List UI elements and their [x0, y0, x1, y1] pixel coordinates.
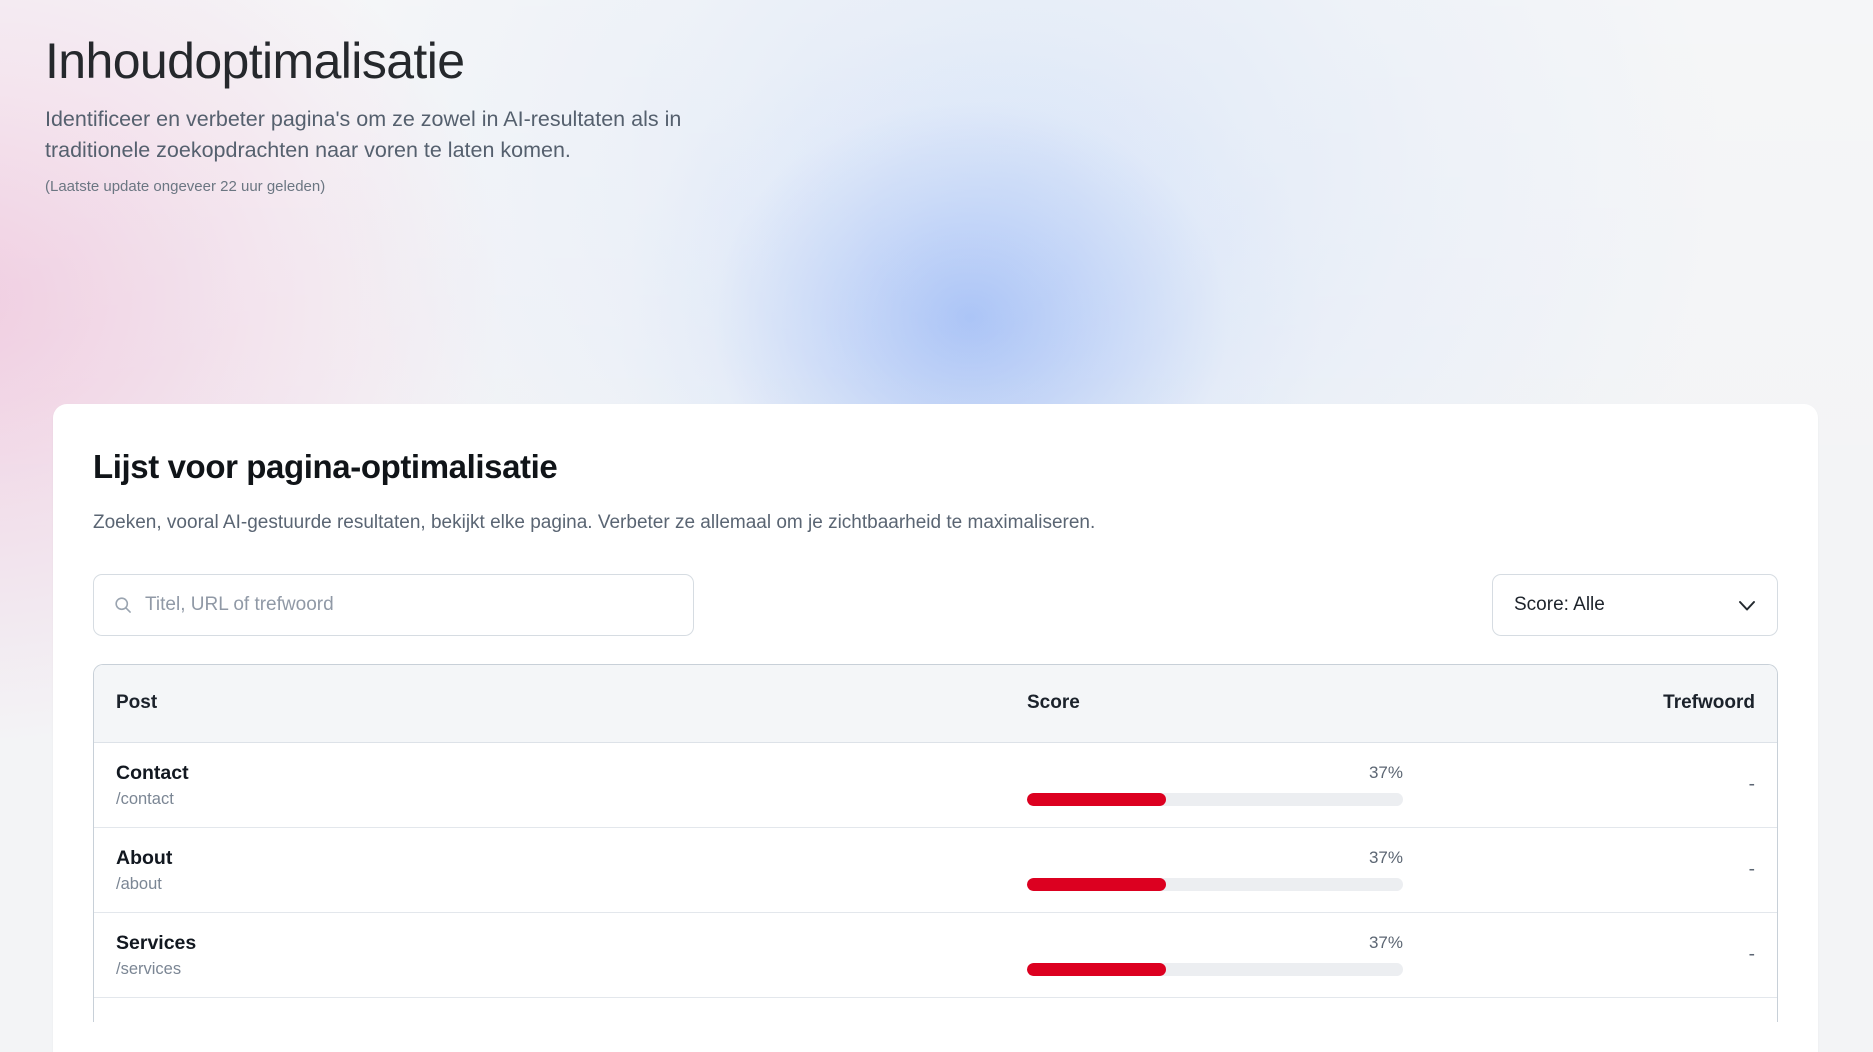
column-header-score[interactable]: Score	[1027, 665, 1457, 743]
table-row[interactable]	[94, 998, 1777, 1022]
cell-score: 37%	[1027, 913, 1457, 998]
last-update-label: (Laatste update ongeveer 22 uur geleden)	[45, 178, 805, 195]
cell-post: About /about	[94, 828, 1027, 913]
score-percentage: 37%	[1027, 849, 1403, 866]
cell-keyword: -	[1457, 913, 1777, 998]
post-url: /services	[116, 960, 1027, 980]
column-header-keyword[interactable]: Trefwoord	[1457, 665, 1777, 743]
chevron-down-icon	[1735, 593, 1759, 617]
page-title: Inhoudoptimalisatie	[45, 34, 805, 88]
optimization-list-card: Lijst voor pagina-optimalisatie Zoeken, …	[53, 404, 1818, 1052]
column-header-post[interactable]: Post	[94, 665, 1027, 743]
post-title: Services	[116, 931, 1027, 955]
cell-keyword: -	[1457, 828, 1777, 913]
score-bar-fill	[1027, 878, 1166, 891]
post-url: /contact	[116, 790, 1027, 810]
page-root: Inhoudoptimalisatie Identificeer en verb…	[0, 0, 1873, 1052]
search-icon	[113, 595, 133, 615]
score-filter-label: Score: Alle	[1514, 594, 1735, 616]
cell-post	[94, 998, 1027, 1022]
cell-score	[1027, 998, 1457, 1022]
page-subtitle: Identificeer en verbeter pagina's om ze …	[45, 104, 685, 165]
pages-table: Post Score Trefwoord Contact /contact	[93, 664, 1778, 1022]
score-bar-track	[1027, 963, 1403, 976]
search-input[interactable]	[94, 575, 693, 635]
cell-keyword	[1457, 998, 1777, 1022]
table-body: Contact /contact 37%	[94, 743, 1777, 1022]
card-title: Lijst voor pagina-optimalisatie	[93, 448, 1778, 486]
post-title: About	[116, 846, 1027, 870]
cell-keyword: -	[1457, 743, 1777, 828]
post-url: /about	[116, 875, 1027, 895]
search-field[interactable]	[93, 574, 694, 636]
cell-post: Services /services	[94, 913, 1027, 998]
score-percentage: 37%	[1027, 934, 1403, 951]
score-bar-track	[1027, 878, 1403, 891]
table-controls: Score: Alle	[93, 574, 1778, 636]
score-percentage: 37%	[1027, 764, 1403, 781]
table-header-row: Post Score Trefwoord	[94, 665, 1777, 743]
score-bar-track	[1027, 793, 1403, 806]
table-row[interactable]: Services /services 37%	[94, 913, 1777, 998]
score-filter-dropdown[interactable]: Score: Alle	[1492, 574, 1778, 636]
score-bar-fill	[1027, 793, 1166, 806]
page-header: Inhoudoptimalisatie Identificeer en verb…	[45, 34, 805, 195]
table-row[interactable]: Contact /contact 37%	[94, 743, 1777, 828]
score-bar-fill	[1027, 963, 1166, 976]
cell-score: 37%	[1027, 743, 1457, 828]
card-subtitle: Zoeken, vooral AI-gestuurde resultaten, …	[93, 510, 1778, 537]
table-row[interactable]: About /about 37%	[94, 828, 1777, 913]
cell-post: Contact /contact	[94, 743, 1027, 828]
post-title: Contact	[116, 761, 1027, 785]
cell-score: 37%	[1027, 828, 1457, 913]
